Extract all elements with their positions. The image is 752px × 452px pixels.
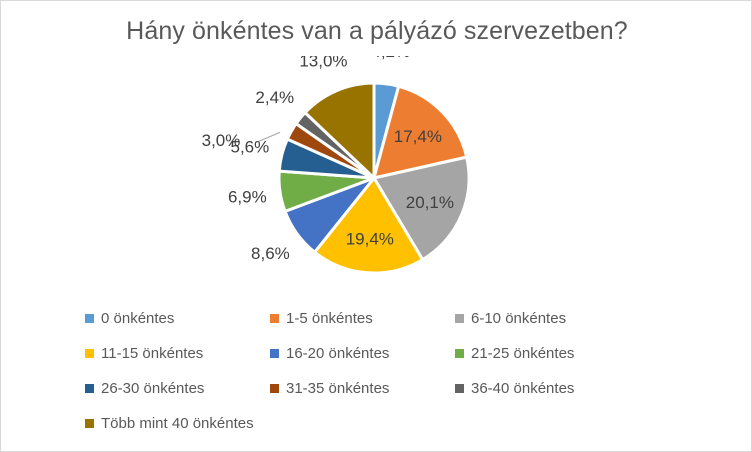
chart-container: Hány önkéntes van a pályázó szervezetben… [0, 0, 752, 452]
legend-item-label: 11-15 önkéntes [101, 345, 203, 362]
legend-color-swatch-icon [85, 349, 94, 358]
chart-legend: 0 önkéntes1-5 önkéntes6-10 önkéntes11-15… [85, 301, 705, 441]
pie-data-label: 17,4% [394, 127, 442, 146]
pie-data-label: 8,6% [251, 244, 290, 263]
pie-data-label: 13,0% [299, 56, 347, 70]
legend-item-label: 31-35 önkéntes [286, 380, 389, 397]
legend-color-swatch-icon [270, 384, 279, 393]
legend-item[interactable]: 6-10 önkéntes [455, 310, 640, 327]
pie-data-label: 4,2% [371, 56, 410, 61]
legend-color-swatch-icon [85, 314, 94, 323]
legend-color-swatch-icon [455, 314, 464, 323]
legend-color-swatch-icon [270, 314, 279, 323]
pie-data-label: 19,4% [346, 230, 394, 249]
legend-item[interactable]: 16-20 önkéntes [270, 345, 455, 362]
legend-color-swatch-icon [455, 349, 464, 358]
legend-item-label: 26-30 önkéntes [101, 380, 204, 397]
legend-item[interactable]: 26-30 önkéntes [85, 380, 270, 397]
legend-color-swatch-icon [270, 349, 279, 358]
legend-item[interactable]: Több mint 40 önkéntes [85, 415, 270, 432]
legend-row: Több mint 40 önkéntes [85, 406, 705, 441]
pie-chart-svg: 4,2%17,4%20,1%19,4%8,6%6,9%5,6%3,0%2,4%1… [1, 56, 751, 291]
legend-item[interactable]: 31-35 önkéntes [270, 380, 455, 397]
legend-item-label: 21-25 önkéntes [471, 345, 574, 362]
legend-item-label: 0 önkéntes [101, 310, 174, 327]
pie-plot-area: 4,2%17,4%20,1%19,4%8,6%6,9%5,6%3,0%2,4%1… [1, 56, 751, 291]
legend-item-label: 16-20 önkéntes [286, 345, 389, 362]
legend-row: 26-30 önkéntes31-35 önkéntes36-40 önként… [85, 371, 705, 406]
legend-item[interactable]: 11-15 önkéntes [85, 345, 270, 362]
legend-color-swatch-icon [85, 419, 94, 428]
legend-item[interactable]: 0 önkéntes [85, 310, 270, 327]
legend-item[interactable]: 1-5 önkéntes [270, 310, 455, 327]
legend-row: 0 önkéntes1-5 önkéntes6-10 önkéntes [85, 301, 705, 336]
pie-data-label: 6,9% [228, 187, 267, 206]
pie-data-label: 3,0% [202, 131, 241, 150]
legend-item-label: 6-10 önkéntes [471, 310, 566, 327]
pie-data-label: 20,1% [406, 193, 454, 212]
legend-row: 11-15 önkéntes16-20 önkéntes21-25 önként… [85, 336, 705, 371]
legend-item[interactable]: 36-40 önkéntes [455, 380, 640, 397]
legend-color-swatch-icon [455, 384, 464, 393]
legend-item[interactable]: 21-25 önkéntes [455, 345, 640, 362]
chart-title: Hány önkéntes van a pályázó szervezetben… [1, 17, 752, 46]
legend-item-label: 36-40 önkéntes [471, 380, 574, 397]
legend-item-label: 1-5 önkéntes [286, 310, 373, 327]
pie-data-label: 2,4% [255, 88, 294, 107]
legend-item-label: Több mint 40 önkéntes [101, 415, 254, 432]
legend-color-swatch-icon [85, 384, 94, 393]
